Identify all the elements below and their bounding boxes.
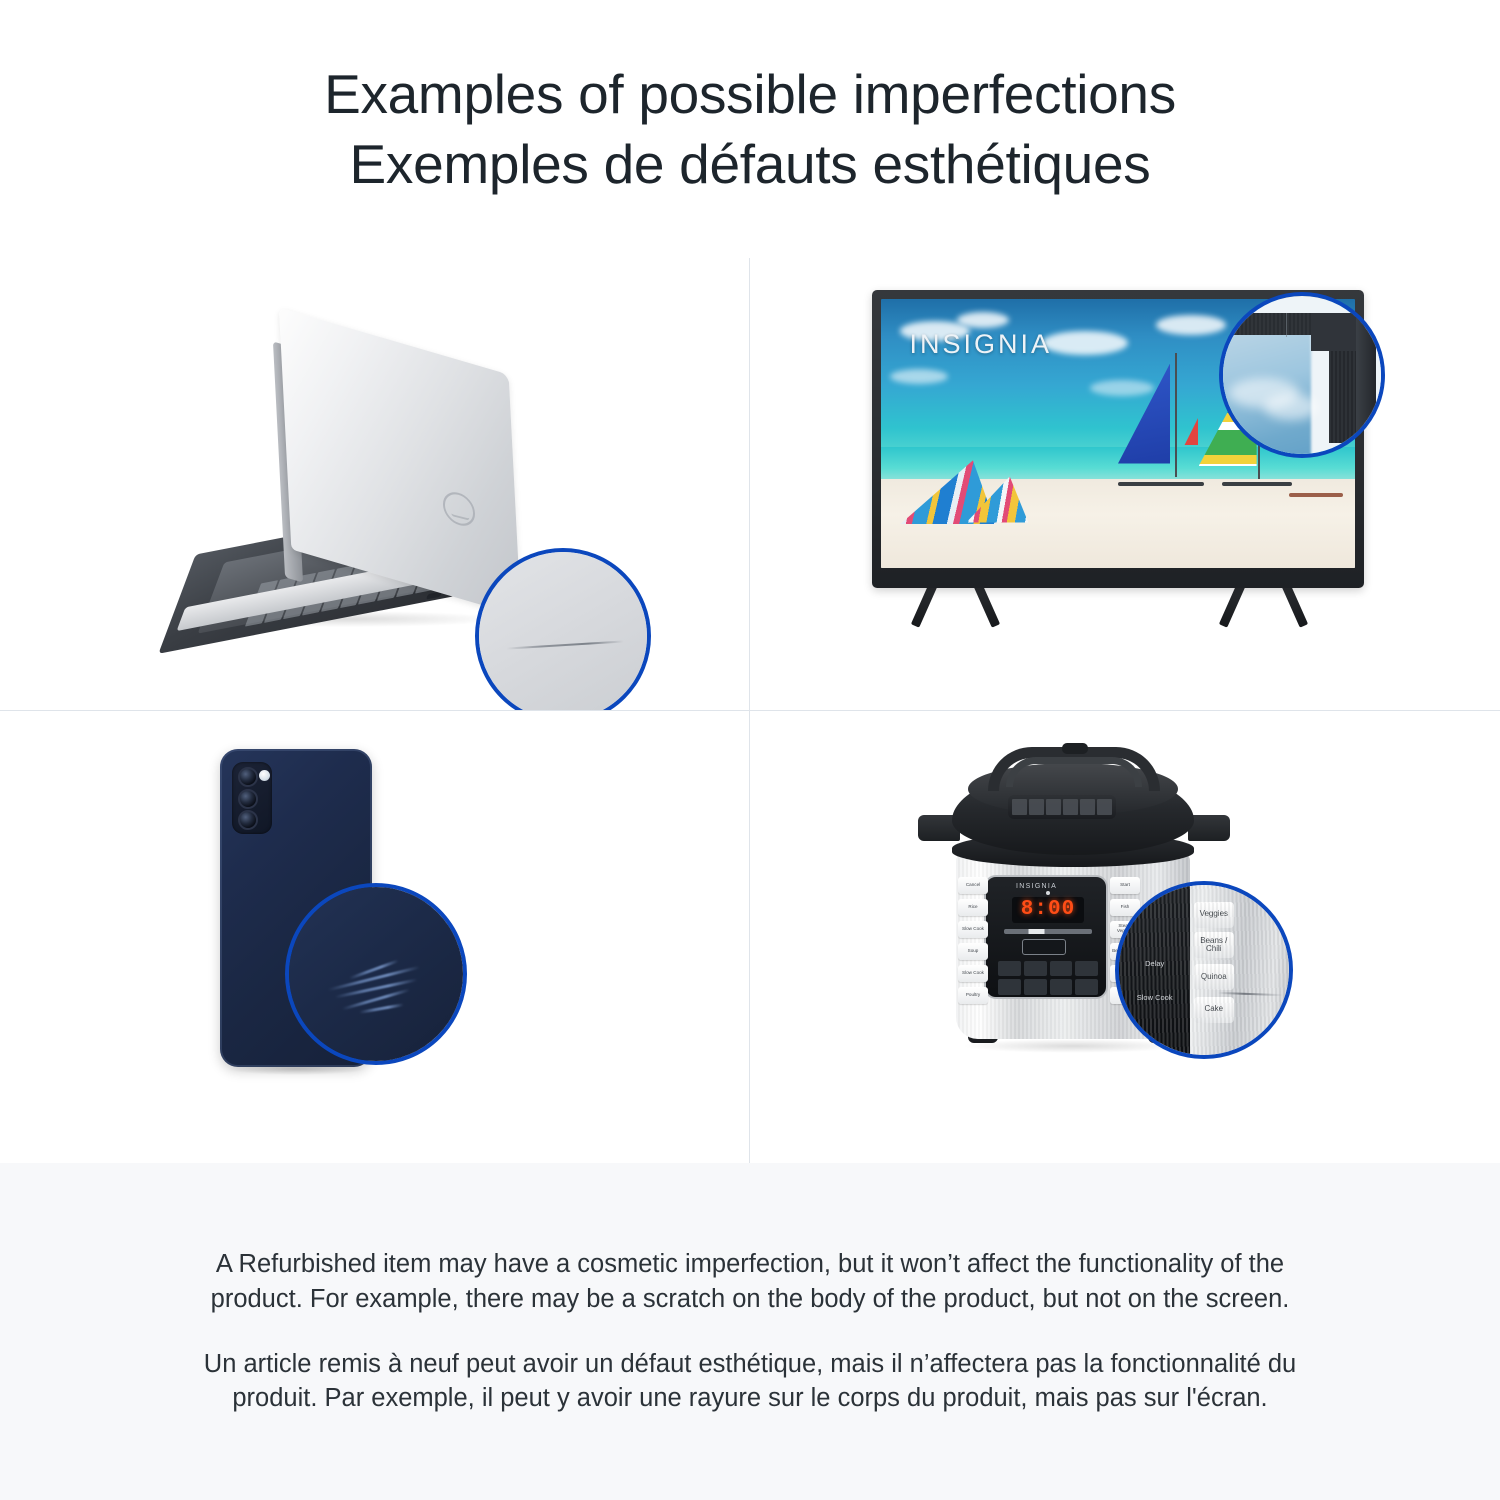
- cooker-brand-logo: INSIGNIA: [1016, 883, 1057, 890]
- refurbished-imperfections-infographic: Examples of possible imperfections Exemp…: [0, 0, 1500, 1500]
- cooker-side-handle: [1188, 815, 1230, 841]
- page-title-fr: Exemples de défauts esthétiques: [350, 129, 1151, 199]
- cooker-display-time: 8:00: [1021, 898, 1075, 921]
- camera-lens-icon: [238, 810, 258, 830]
- footer-disclaimer: A Refurbished item may have a cosmetic i…: [0, 1163, 1500, 1500]
- pressure-cooker-illustration: INSIGNIA 8:00 Cancel R: [750, 711, 1500, 1164]
- tv-brand-logo: INSIGNIA: [909, 329, 1052, 360]
- magnified-brushed-texture: [1119, 885, 1289, 1055]
- tv-leg-left: [924, 582, 1000, 628]
- cooker-function-button-grid[interactable]: [998, 961, 1098, 995]
- cooker-button-slow-cook[interactable]: Slow Cook: [958, 921, 988, 938]
- pressure-cooker-product-image: INSIGNIA 8:00 Cancel R: [910, 729, 1290, 1099]
- cooker-left-button-column[interactable]: Cancel Rice Slow Cook Soup Slow Cook Pou…: [958, 877, 988, 1004]
- magnified-cooker-body: Delay Slow Cook Veggies Beans / Chili Qu…: [1119, 885, 1289, 1055]
- cooker-indicator-led-icon: [1046, 891, 1050, 895]
- magnifier-circle-pressure-cooker: Delay Slow Cook Veggies Beans / Chili Qu…: [1115, 881, 1293, 1059]
- scratch-mark: [506, 641, 623, 650]
- example-cell-tv: INSIGNIA: [750, 258, 1500, 711]
- cooker-control-panel: INSIGNIA 8:00: [984, 875, 1108, 999]
- phone-illustration: [0, 711, 749, 1164]
- cooker-button-soup[interactable]: Soup: [958, 943, 988, 960]
- tv-product-image: INSIGNIA: [872, 290, 1372, 650]
- cooker-button-poultry[interactable]: Poultry: [958, 987, 988, 1004]
- magnified-phone-back: [289, 887, 463, 1061]
- camera-flash-icon: [259, 770, 270, 781]
- laptop-product-image: [175, 343, 535, 643]
- cooker-lid-handle-inner: [1006, 757, 1142, 787]
- cooker-button-cancel[interactable]: Cancel: [958, 877, 988, 894]
- camera-module-icon: [232, 762, 272, 834]
- tv-scene-sail-blue: [1118, 364, 1170, 464]
- example-cell-phone: [0, 711, 750, 1164]
- magnifier-circle-phone: [285, 883, 467, 1065]
- cooker-mode-indicator-bar: [1004, 929, 1092, 934]
- camera-lens-icon: [238, 789, 258, 809]
- magnified-tv-bezel: [1223, 296, 1381, 454]
- example-cell-laptop: [0, 258, 750, 711]
- magnifier-circle-tv: [1219, 292, 1385, 458]
- cooker-pressure-select-button[interactable]: [1022, 939, 1066, 955]
- page-title-en: Examples of possible imperfections: [324, 59, 1176, 129]
- cooker-button-rice[interactable]: Rice: [958, 899, 988, 916]
- tv-leg-right: [1232, 582, 1308, 628]
- camera-lens-icon: [238, 767, 258, 787]
- tv-illustration: INSIGNIA: [750, 258, 1500, 710]
- disclaimer-paragraph-fr: Un article remis à neuf peut avoir un dé…: [185, 1347, 1315, 1417]
- cooker-display: 8:00: [1012, 897, 1084, 923]
- cooker-steam-valve-icon: [1062, 743, 1088, 754]
- cooker-button-slow-cook-2[interactable]: Slow Cook: [958, 965, 988, 982]
- header: Examples of possible imperfections Exemp…: [0, 0, 1500, 258]
- phone-product-image: [205, 741, 545, 1131]
- cooker-lid-vent-panel: [1008, 795, 1116, 819]
- tv-side-edge: [1356, 318, 1377, 432]
- disclaimer-paragraph-en: A Refurbished item may have a cosmetic i…: [185, 1247, 1315, 1317]
- examples-grid: INSIGNIA: [0, 258, 1500, 1163]
- magnified-laptop-surface: [479, 552, 647, 711]
- magnifier-circle-laptop: [475, 548, 651, 711]
- tv-bezel-seam: [1286, 313, 1287, 337]
- example-cell-pressure-cooker: INSIGNIA 8:00 Cancel R: [750, 711, 1500, 1164]
- laptop-illustration: [0, 258, 749, 710]
